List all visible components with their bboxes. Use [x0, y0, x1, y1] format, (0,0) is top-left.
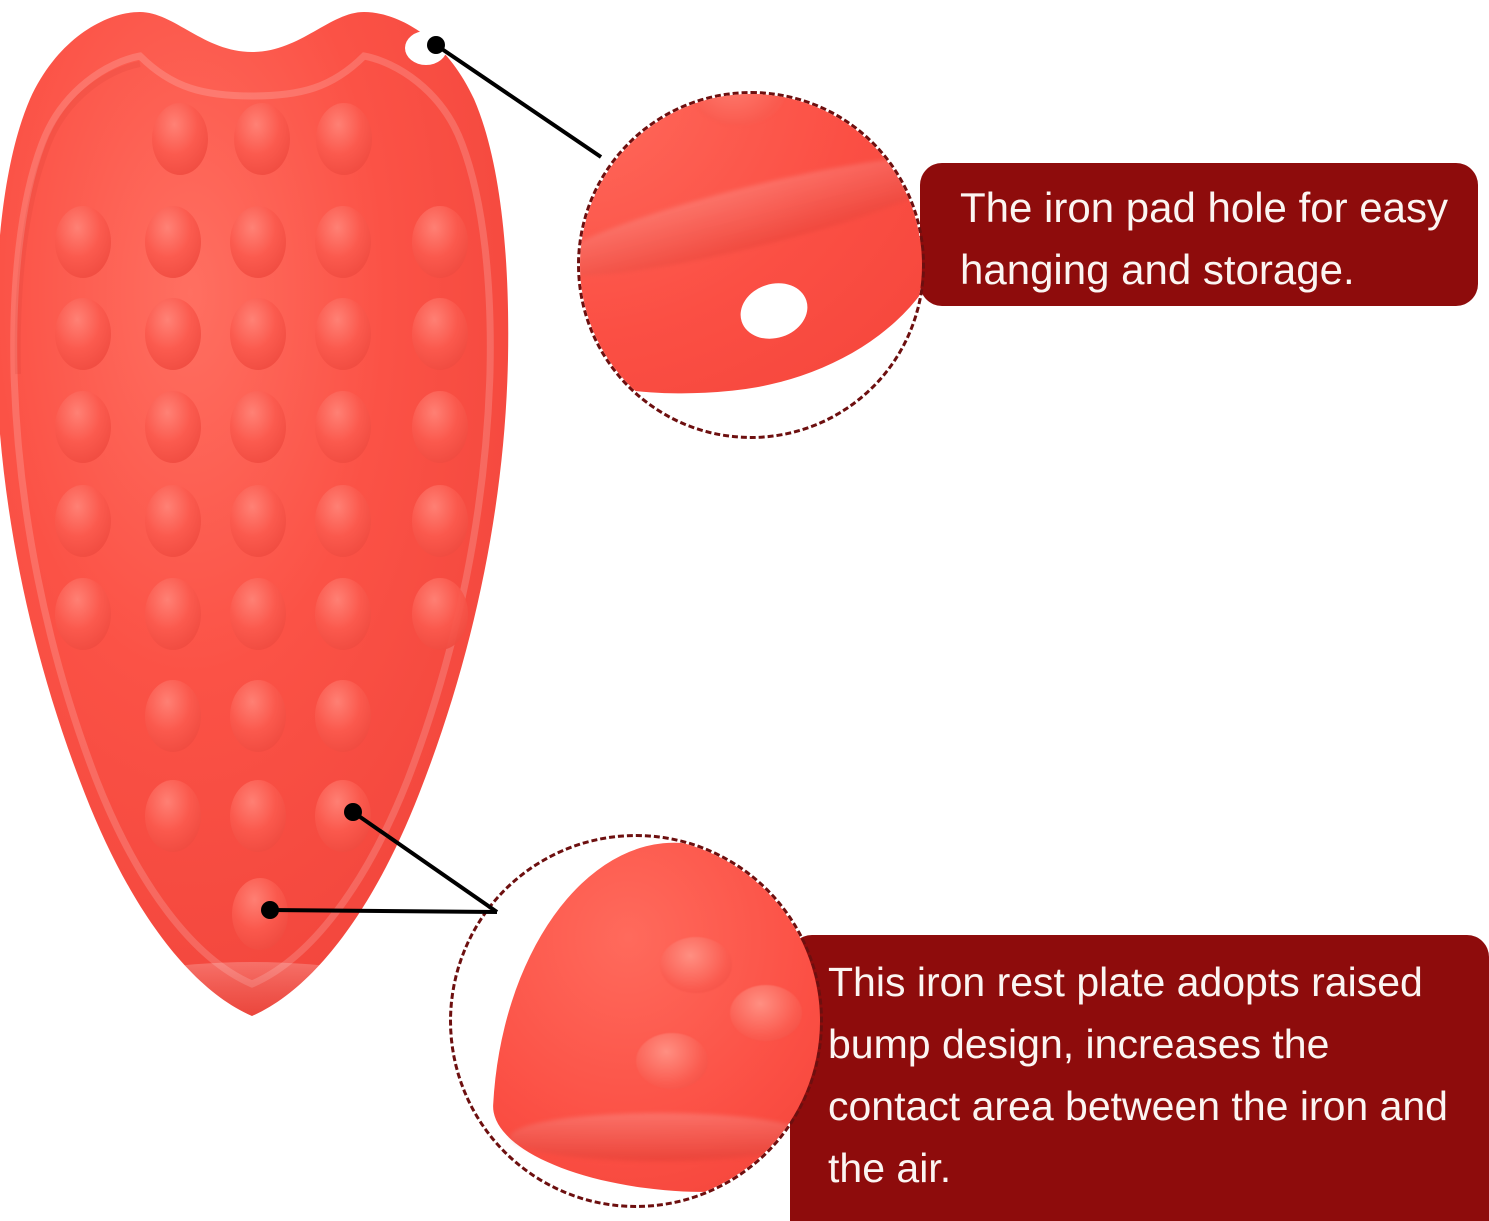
hole-magnifier-clip [580, 94, 922, 436]
callout-bumps-text: This iron rest plate adopts raised bump … [828, 951, 1463, 1199]
magnified-bump-1 [660, 937, 732, 993]
iron-rest-pad [0, 4, 520, 1054]
callout-hole-text: The iron pad hole for easy hanging and s… [960, 177, 1452, 301]
magnified-bump-2 [730, 985, 802, 1041]
bump-magnifier [449, 834, 823, 1208]
callout-bumps: This iron rest plate adopts raised bump … [790, 935, 1489, 1221]
product-infographic: The iron pad hole for easy hanging and s… [0, 0, 1489, 1221]
magnified-pad-tip-edge [510, 1113, 810, 1161]
hanging-hole [405, 31, 447, 65]
magnified-bump-3 [636, 1033, 708, 1089]
callout-hole: The iron pad hole for easy hanging and s… [920, 163, 1478, 306]
bump-magnifier-clip [452, 837, 820, 1205]
hole-magnifier [577, 91, 925, 439]
